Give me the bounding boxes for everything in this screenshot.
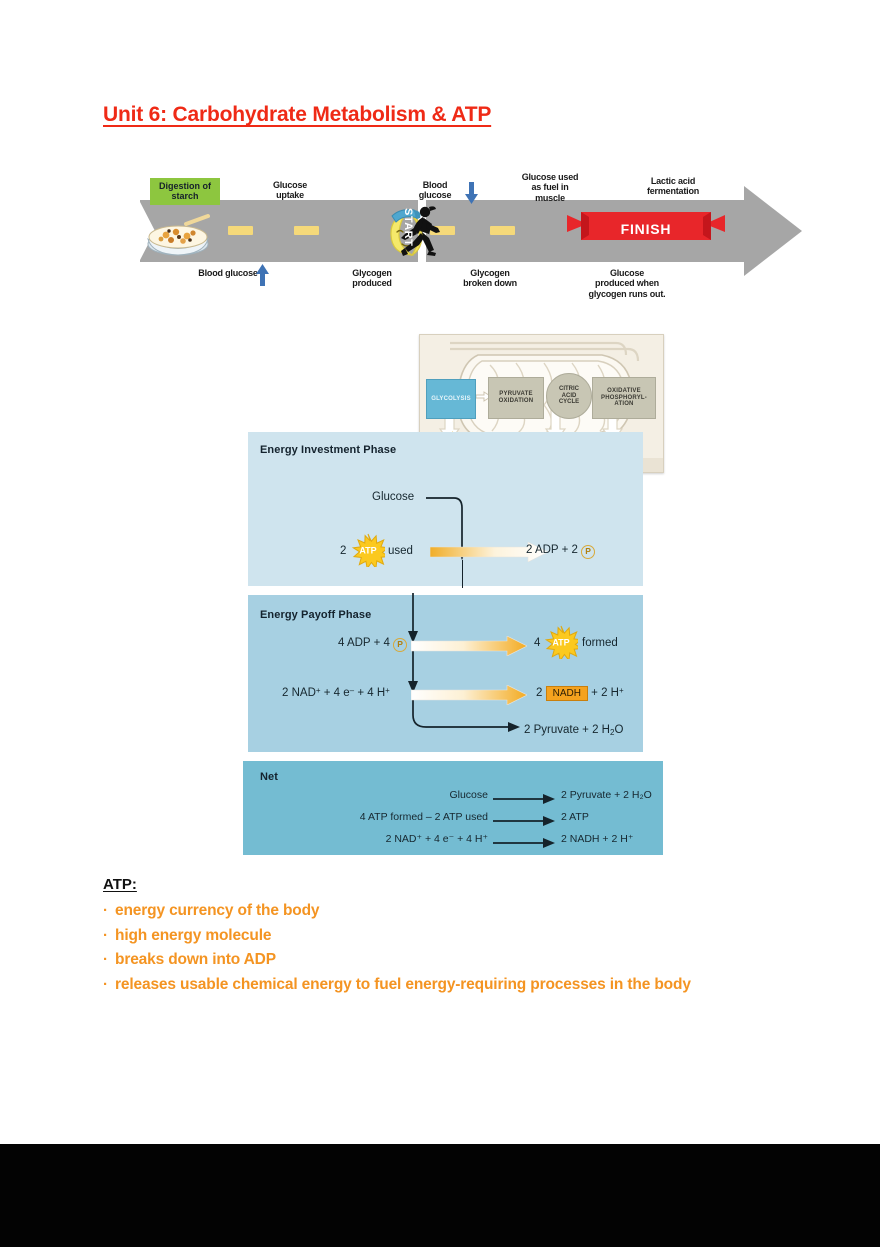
label-glycogen-produced: Glycogenproduced <box>332 268 412 289</box>
start-label: START <box>402 208 414 246</box>
lane-dash <box>490 226 515 235</box>
panel-title-investment: Energy Investment Phase <box>260 444 396 456</box>
phosphate-icon: P <box>393 638 407 652</box>
road-arrowhead <box>744 186 802 276</box>
document-page: Unit 6: Carbohydrate Metabolism & ATP <box>0 0 880 1247</box>
investment-left-suffix: used <box>388 545 413 557</box>
net-row-arrow <box>493 793 555 805</box>
investment-left-prefix: 2 <box>340 545 346 557</box>
panel-title-net: Net <box>260 771 278 783</box>
lane-dash <box>294 226 319 235</box>
energy-payoff-phase-panel: Energy Payoff Phase 4 ADP + 4 P <box>248 595 643 752</box>
net-summary-panel: Net Glucose 2 Pyruvate + 2 H₂O 4 ATP for… <box>243 761 663 855</box>
payoff-row2-c: + 4 H <box>357 687 385 699</box>
net-row-arrow <box>493 837 555 849</box>
label-glucose-uptake: Glucoseuptake <box>255 180 325 201</box>
bullet-glyph: · <box>103 924 115 949</box>
bullet-glyph: · <box>103 973 115 998</box>
payoff-row2-b: + 4 e <box>324 687 350 699</box>
payoff-row2-a: 2 NAD <box>282 687 316 699</box>
atp-burst-icon: ATP <box>544 625 578 659</box>
svg-text:ATP: ATP <box>552 638 569 648</box>
net-row-left: Glucose <box>243 789 488 801</box>
carbohydrate-metabolism-racetrack-figure: START FINISH Digestion ofstarch Glucoseu… <box>140 168 805 298</box>
arrow-down-icon <box>465 182 478 204</box>
finish-ribbon: FINISH <box>567 212 725 246</box>
list-item-label: high energy molecule <box>115 924 803 949</box>
atp-burst-icon: ATP <box>351 533 385 567</box>
payoff-flow-arrows <box>400 593 530 753</box>
payoff-row1-reaction-arrow <box>411 636 527 656</box>
phosphate-icon: P <box>581 545 595 559</box>
label-lactic-acid-fermentation: Lactic acidfermentation <box>630 176 716 197</box>
list-item: · energy currency of the body <box>103 899 803 924</box>
net-row-left: 2 NAD⁺ + 4 e⁻ + 4 H⁺ <box>243 833 488 845</box>
atp-bullet-list: · energy currency of the body · high ene… <box>103 899 803 997</box>
net-row-arrow <box>493 815 555 827</box>
energy-investment-phase-panel: Energy Investment Phase Glucose 2 ATP us… <box>248 432 643 586</box>
overview-stage-glycolysis: GLYCOLYSIS <box>426 379 476 419</box>
digestion-of-starch-callout: Digestion ofstarch <box>150 178 220 205</box>
net-row-right: 2 Pyruvate + 2 H₂O <box>561 789 652 801</box>
list-item: · high energy molecule <box>103 924 803 949</box>
list-item: · breaks down into ADP <box>103 948 803 973</box>
payoff-row1-left-text: 4 ADP + 4 <box>338 637 390 649</box>
list-item-label: releases usable chemical energy to fuel … <box>115 973 803 998</box>
finish-label: FINISH <box>567 212 725 246</box>
payoff-row1-right-prefix: 4 <box>534 637 540 649</box>
payoff-row2-right: 2 NADH + 2 H+ <box>536 686 624 701</box>
atp-heading: ATP: <box>103 876 137 893</box>
overview-stage-oxidative-phosphorylation: OXIDATIVE PHOSPHORYL- ATION <box>592 377 656 419</box>
investment-right-text: 2 ADP + 2 <box>526 544 578 556</box>
payoff-row2-suffix: + 2 H <box>591 687 619 699</box>
payoff-row3-pyruvate: 2 Pyruvate + 2 H2O <box>524 724 623 737</box>
label-blood-glucose-down: Bloodglucose <box>407 180 463 201</box>
investment-products: 2 ADP + 2 P <box>526 544 595 559</box>
payoff-row1-right-suffix: formed <box>582 637 618 649</box>
arrow-up-icon <box>256 264 269 286</box>
bowl-of-cereal-icon <box>146 206 210 256</box>
overview-stage-citric-acid-cycle: CITRIC ACID CYCLE <box>546 373 592 419</box>
bullet-glyph: · <box>103 948 115 973</box>
payoff-row3-text: 2 Pyruvate + 2 H <box>524 724 610 736</box>
net-row-right: 2 ATP <box>561 811 589 823</box>
payoff-row2-left: 2 NAD+ + 4 e– + 4 H+ <box>282 686 390 699</box>
svg-text:ATP: ATP <box>359 546 376 556</box>
racetrack-road: START FINISH <box>140 200 805 262</box>
page-title: Unit 6: Carbohydrate Metabolism & ATP <box>103 103 491 127</box>
glucose-flow-line <box>462 560 464 588</box>
list-item-label: breaks down into ADP <box>115 948 803 973</box>
overview-stage-pyruvate-oxidation: PYRUVATE OXIDATION <box>488 377 544 419</box>
bullet-glyph: · <box>103 899 115 924</box>
panel-title-payoff: Energy Payoff Phase <box>260 609 371 621</box>
glucose-label-investment: Glucose <box>372 491 414 503</box>
lane-dash <box>228 226 253 235</box>
bottom-black-bar <box>0 1144 880 1247</box>
payoff-row3-tail: O <box>614 724 623 736</box>
label-glucose-fuel-muscle: Glucose usedas fuel inmuscle <box>505 172 595 203</box>
label-glucose-produced: Glucoseproduced whenglycogen runs out. <box>572 268 682 299</box>
payoff-row2-prefix: 2 <box>536 687 542 699</box>
list-item-label: energy currency of the body <box>115 899 803 924</box>
label-glycogen-broken-down: Glycogenbroken down <box>445 268 535 289</box>
payoff-row2-reaction-arrow <box>411 685 527 705</box>
payoff-row1-left: 4 ADP + 4 P <box>338 637 407 652</box>
nadh-badge: NADH <box>546 686 588 701</box>
list-item: · releases usable chemical energy to fue… <box>103 973 803 998</box>
net-row-left: 4 ATP formed – 2 ATP used <box>243 811 488 823</box>
net-row-right: 2 NADH + 2 H⁺ <box>561 833 633 845</box>
